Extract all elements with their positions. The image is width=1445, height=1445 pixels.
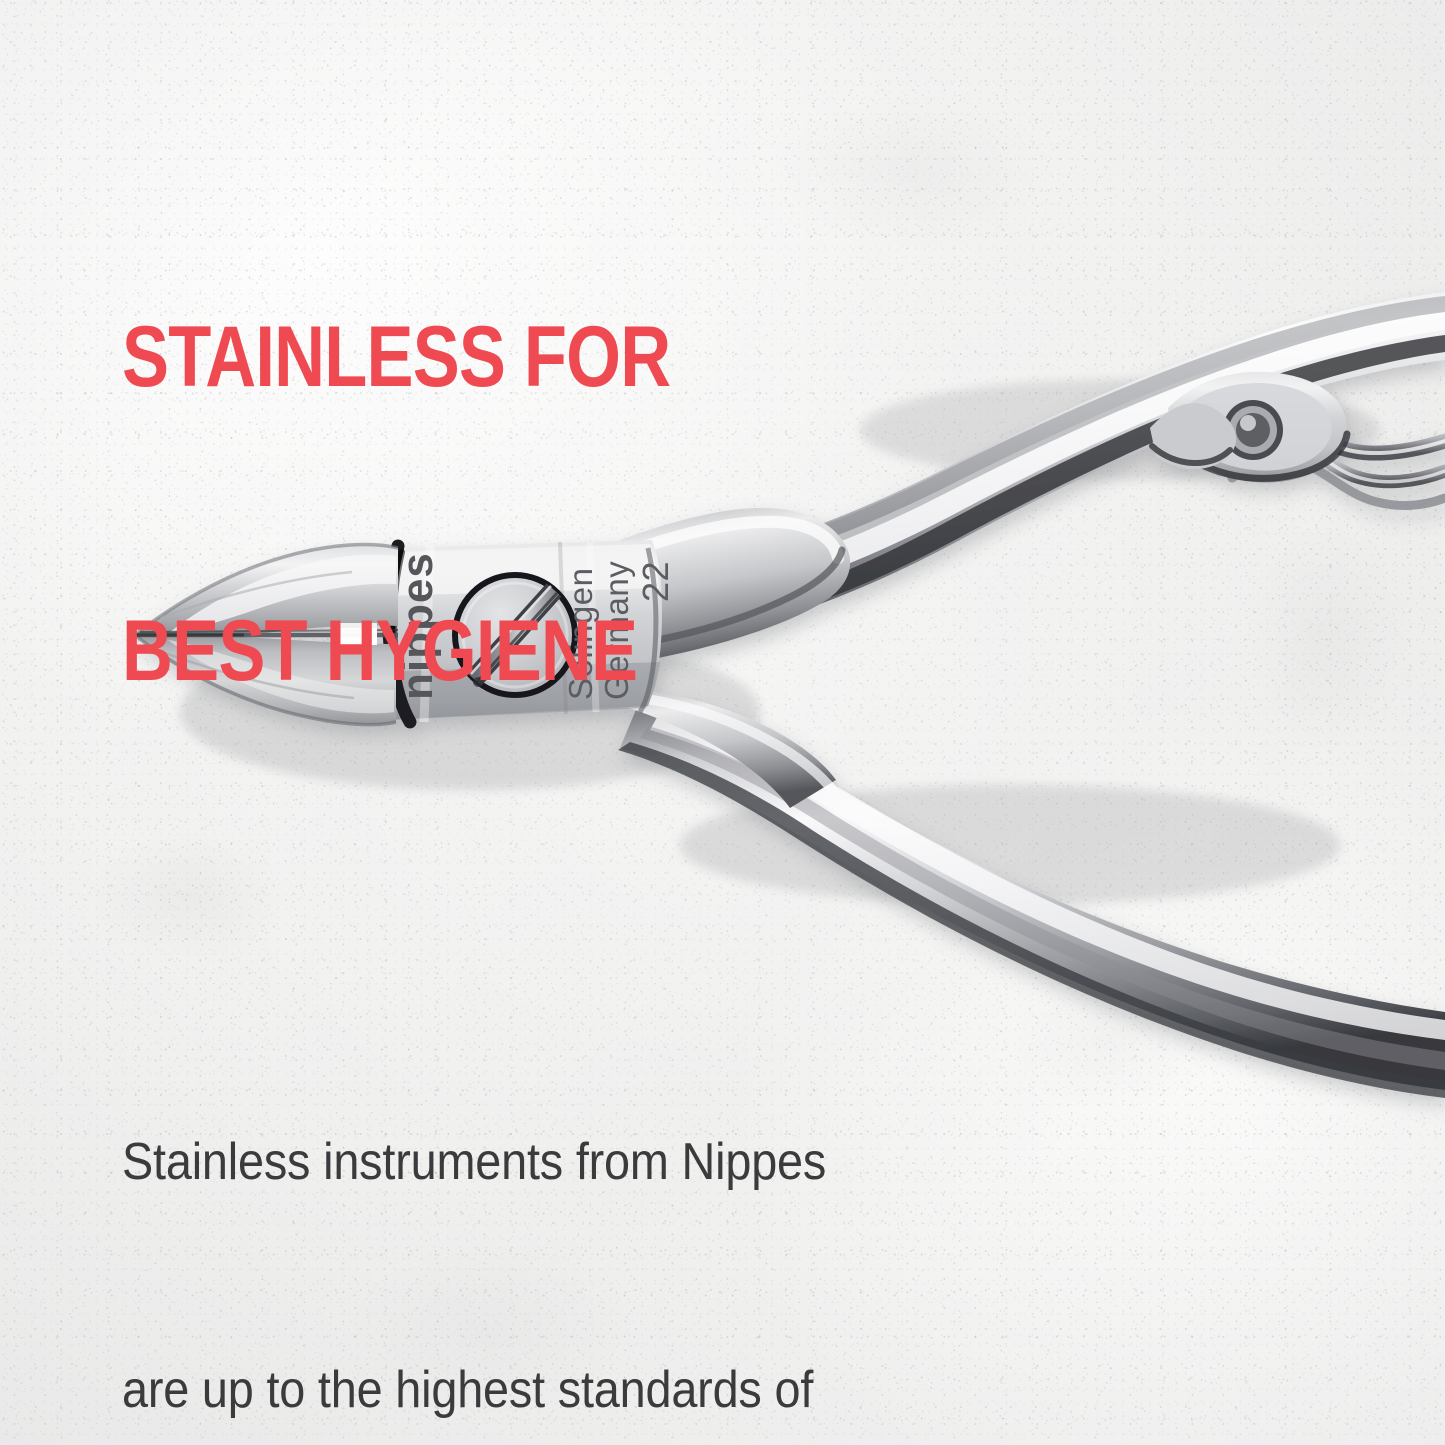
headline-line-2: BEST HYGIENE xyxy=(122,602,670,700)
body-copy: Stainless instruments from Nippes are up… xyxy=(122,972,826,1445)
body-line-2: are up to the highest standards of xyxy=(122,1352,826,1428)
product-marketing-poster: nippes Solingen Germany 22 xyxy=(0,0,1445,1445)
headline-line-1: STAINLESS FOR xyxy=(122,308,670,406)
body-line-1: Stainless instruments from Nippes xyxy=(122,1124,826,1200)
headline: STAINLESS FOR BEST HYGIENE xyxy=(122,112,670,896)
